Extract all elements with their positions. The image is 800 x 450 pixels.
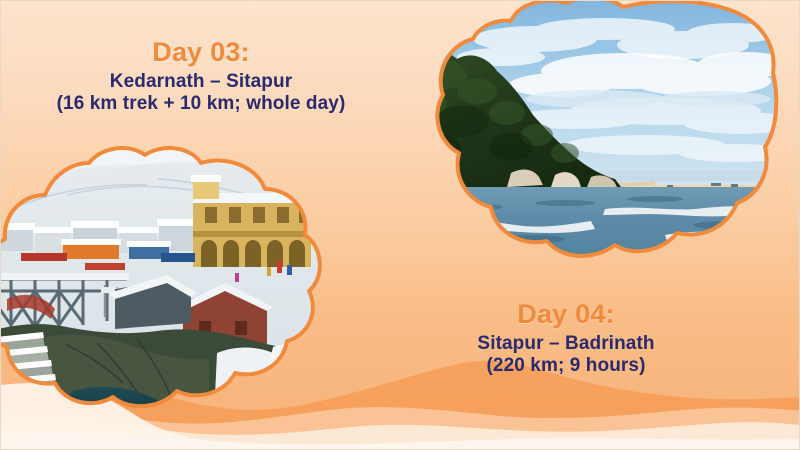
day-04-route: Sitapur – Badrinath (401, 333, 731, 355)
presentation-slide: Day 03: Kedarnath – Sitapur (16 km trek … (0, 0, 800, 450)
day-03-title: Day 03: (11, 37, 391, 68)
people-figures (173, 417, 192, 434)
snow-rocks (213, 345, 327, 439)
beach-coastline-photo (415, 0, 781, 275)
day-04-title: Day 04: (401, 299, 731, 330)
day-04-detail: (220 km; 9 hours) (401, 355, 731, 377)
caption-day-04: Day 04: Sitapur – Badrinath (220 km; 9 h… (401, 299, 731, 377)
day-03-route: Kedarnath – Sitapur (11, 71, 391, 93)
day-03-detail: (16 km trek + 10 km; whole day) (11, 93, 391, 115)
beach-photo-content (411, 0, 799, 285)
snowy-mountain-town-photo (0, 139, 327, 439)
caption-day-03: Day 03: Kedarnath – Sitapur (16 km trek … (11, 37, 391, 115)
